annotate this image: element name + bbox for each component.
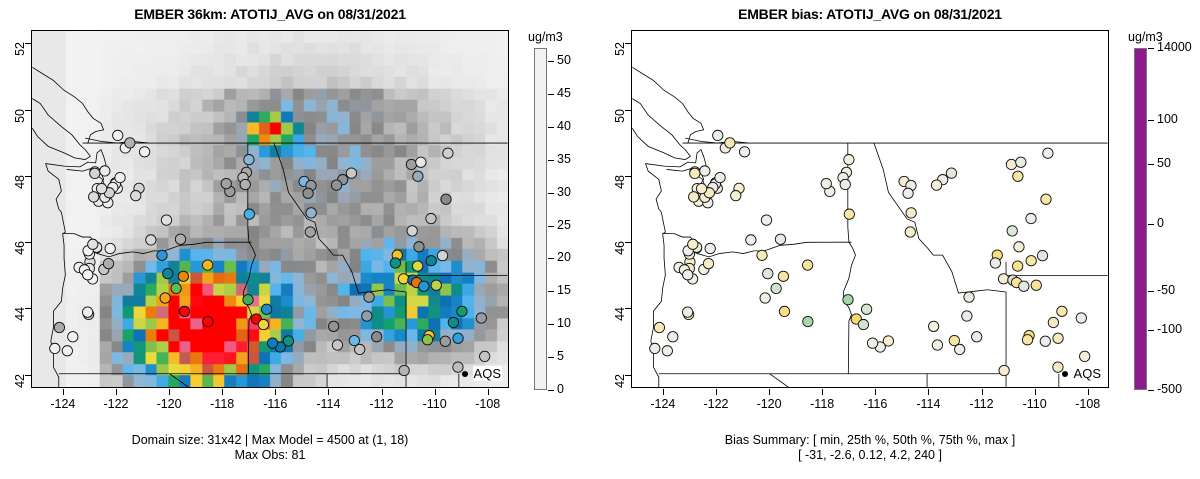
x-tick: [769, 389, 770, 395]
colorbar-tick: [548, 226, 554, 227]
x-tick-label: -112: [360, 397, 404, 411]
colorbar-unit-label: ug/m3: [528, 30, 563, 44]
colorbar-tick-label: 0: [1157, 216, 1164, 230]
colorbar-tick: [548, 127, 554, 128]
x-tick-label: -110: [413, 397, 457, 411]
x-axis-model: -124-122-120-118-116-114-112-110-108: [0, 0, 540, 479]
x-tick: [1035, 389, 1036, 395]
colorbar-model: ug/m3 05101520253035404550: [520, 30, 600, 390]
x-tick-label: -114: [906, 397, 950, 411]
colorbar-tick-label: 50: [557, 53, 571, 67]
x-tick: [982, 389, 983, 395]
caption-line1-model: Domain size: 31x42 | Max Model = 4500 at…: [0, 433, 540, 448]
colorbar-tick: [1148, 330, 1154, 331]
colorbar-tick-label: 15: [557, 283, 571, 297]
colorbar-tick-label: -50: [1157, 283, 1175, 297]
colorbar-tick-label: 50: [1157, 156, 1171, 170]
x-tick: [716, 389, 717, 395]
x-tick: [382, 389, 383, 395]
x-tick-label: -112: [960, 397, 1004, 411]
colorbar-tick-label: 5: [557, 349, 564, 363]
x-tick-label: -118: [800, 397, 844, 411]
colorbar-tick-label: 40: [557, 119, 571, 133]
x-tick-label: -124: [641, 397, 685, 411]
colorbar-tick: [1148, 164, 1154, 165]
colorbar-tick-label: -100: [1157, 322, 1182, 336]
colorbar-tick: [548, 94, 554, 95]
colorbar-tick: [548, 291, 554, 292]
caption-line1-bias: Bias Summary: [ min, 25th %, 50th %, 75t…: [600, 433, 1140, 448]
x-tick: [488, 389, 489, 395]
colorbar-tick: [548, 390, 554, 391]
colorbar-tick-label: 10: [557, 316, 571, 330]
x-tick-label: -124: [41, 397, 85, 411]
x-tick-label: -120: [147, 397, 191, 411]
x-tick-label: -108: [466, 397, 510, 411]
x-tick: [116, 389, 117, 395]
x-tick-label: -114: [306, 397, 350, 411]
colorbar-gradient: [1134, 48, 1147, 390]
colorbar-tick-label: 14000: [1157, 40, 1192, 54]
x-tick-label: -122: [694, 397, 738, 411]
x-tick-label: -116: [853, 397, 897, 411]
x-tick-label: -116: [253, 397, 297, 411]
x-tick: [275, 389, 276, 395]
x-tick: [63, 389, 64, 395]
colorbar-tick: [1148, 224, 1154, 225]
x-axis-bias: -124-122-120-118-116-114-112-110-108: [600, 0, 1140, 479]
colorbar-tick: [1148, 291, 1154, 292]
colorbar-tick: [548, 160, 554, 161]
x-tick: [328, 389, 329, 395]
caption-line2-model: Max Obs: 81: [0, 448, 540, 463]
colorbar-tick: [1148, 390, 1154, 391]
colorbar-gradient: [534, 48, 547, 390]
x-tick: [875, 389, 876, 395]
panel-model: EMBER 36km: ATOTIJ_AVG on 08/31/2021 AQS…: [0, 0, 600, 479]
x-tick: [1088, 389, 1089, 395]
colorbar-tick-label: 20: [557, 250, 571, 264]
x-tick: [435, 389, 436, 395]
x-tick: [928, 389, 929, 395]
colorbar-tick: [548, 61, 554, 62]
caption-line2-bias: [ -31, -2.6, 0.12, 4.2, 240 ]: [600, 448, 1140, 463]
colorbar-tick: [548, 357, 554, 358]
x-tick: [222, 389, 223, 395]
x-tick-label: -110: [1013, 397, 1057, 411]
colorbar-bias: ug/m3 -500-100-5005010014000: [1120, 30, 1200, 390]
colorbar-tick: [1148, 48, 1154, 49]
x-tick-label: -118: [200, 397, 244, 411]
colorbar-tick-label: 0: [557, 382, 564, 396]
colorbar-tick-label: 100: [1157, 112, 1178, 126]
colorbar-tick: [1148, 120, 1154, 121]
colorbar-tick-label: 30: [557, 185, 571, 199]
colorbar-tick-label: 45: [557, 86, 571, 100]
colorbar-tick: [548, 193, 554, 194]
x-tick-label: -120: [747, 397, 791, 411]
x-tick: [169, 389, 170, 395]
x-tick-label: -122: [94, 397, 138, 411]
colorbar-tick-label: 35: [557, 152, 571, 166]
colorbar-tick-label: 25: [557, 218, 571, 232]
colorbar-tick: [548, 258, 554, 259]
x-tick: [663, 389, 664, 395]
figure-root: EMBER 36km: ATOTIJ_AVG on 08/31/2021 AQS…: [0, 0, 1200, 479]
panel-bias: EMBER bias: ATOTIJ_AVG on 08/31/2021 AQS…: [600, 0, 1200, 479]
x-tick: [822, 389, 823, 395]
colorbar-tick: [548, 324, 554, 325]
x-tick-label: -108: [1066, 397, 1110, 411]
colorbar-tick-label: -500: [1157, 382, 1182, 396]
